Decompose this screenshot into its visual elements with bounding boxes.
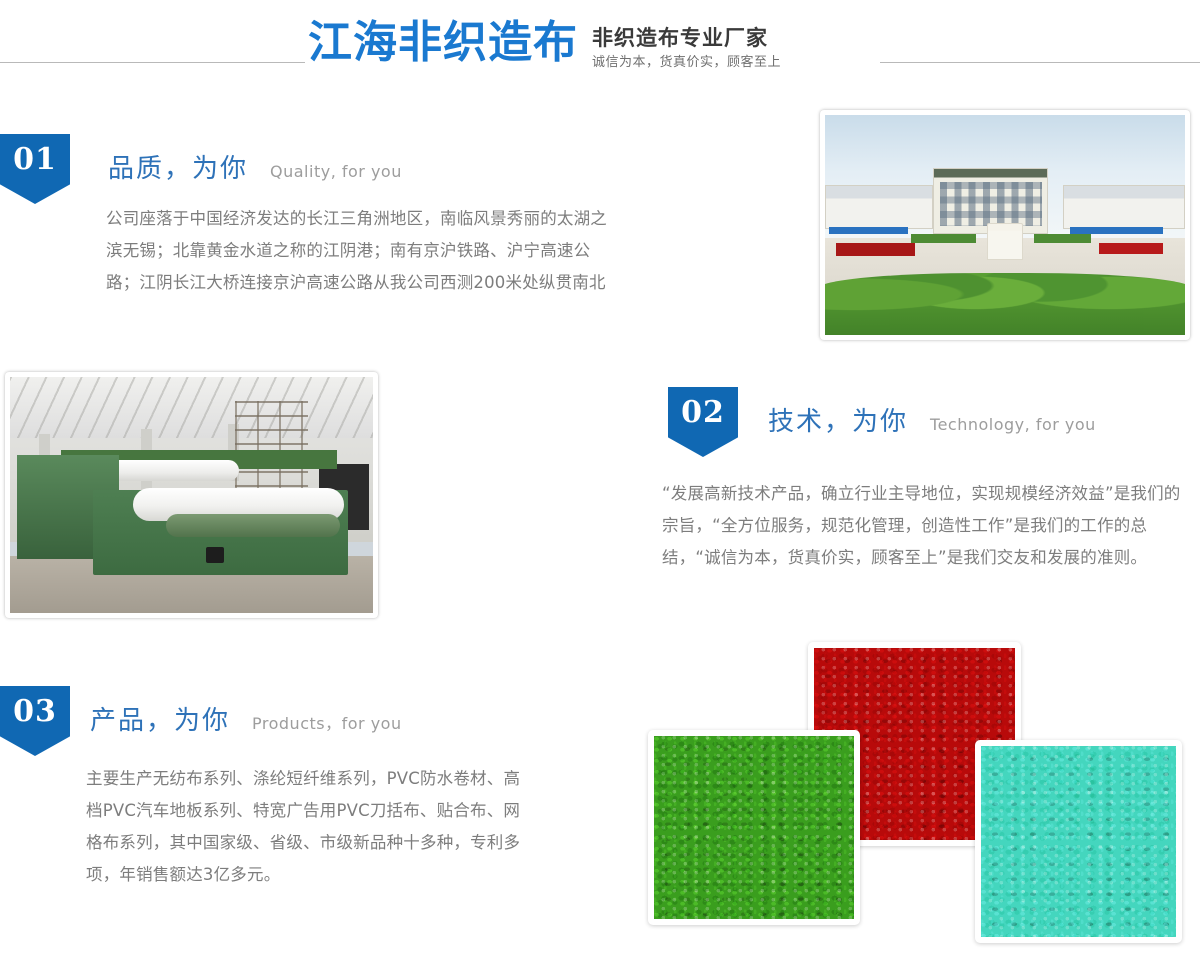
machinery-drum <box>166 514 340 538</box>
factory-canopy-right <box>1070 227 1164 234</box>
section-title-en-01: Quality, for you <box>270 162 402 181</box>
brand-block: 江海非织造布 非织造布专业厂家 诚信为本，货真价实，顾客至上 <box>308 14 781 74</box>
brand-tagline: 非织造布专业厂家 <box>592 24 781 52</box>
brand-logo-title: 江海非织造布 <box>308 14 578 72</box>
factory-treeline <box>825 273 1185 335</box>
section-heading-03: 产品，为你 Products，for you <box>90 700 402 737</box>
machinery-photo <box>5 372 378 618</box>
factory-building-left <box>825 185 933 229</box>
company-intro-page: 江海非织造布 非织造布专业厂家 诚信为本，货真价实，顾客至上 01 品质，为你 … <box>0 0 1200 969</box>
factory-sign-right <box>1099 243 1164 254</box>
section-title-en-03: Products，for you <box>252 710 402 734</box>
machinery-photo-content <box>10 377 373 613</box>
swatch-green <box>648 730 860 925</box>
factory-hedge-right <box>1034 234 1092 243</box>
section-body-03: 主要生产无纺布系列、涤纶短纤维系列，PVC防水卷材、高档PVC汽车地板系列、特宽… <box>86 763 534 891</box>
header-rule-right <box>880 62 1200 63</box>
section-badge-02: 02 <box>668 387 738 457</box>
section-title-en-02: Technology, for you <box>930 415 1096 434</box>
section-title-cn-03: 产品，为你 <box>90 700 230 737</box>
swatch-cyan-surface <box>981 746 1176 937</box>
machinery-ceiling <box>10 377 373 438</box>
swatch-green-surface <box>654 736 854 919</box>
header-rule-left <box>0 62 305 63</box>
brand-slogan: 诚信为本，货真价实，顾客至上 <box>592 52 781 74</box>
factory-gatehouse <box>987 223 1023 260</box>
machinery-access-hatch <box>206 547 224 564</box>
section-badge-03: 03 <box>0 686 70 756</box>
factory-photo-content <box>825 115 1185 335</box>
factory-canopy-left <box>829 227 908 234</box>
page-header: 江海非织造布 非织造布专业厂家 诚信为本，货真价实，顾客至上 <box>0 0 1200 100</box>
section-heading-01: 品质，为你 Quality, for you <box>108 148 402 185</box>
factory-photo <box>820 110 1190 340</box>
brand-tagline-group: 非织造布专业厂家 诚信为本，货真价实，顾客至上 <box>592 14 781 74</box>
section-title-cn-02: 技术，为你 <box>768 401 908 438</box>
factory-hedge-left <box>911 234 976 243</box>
section-body-01: 公司座落于中国经济发达的长江三角洲地区，南临风景秀丽的太湖之滨无锡；北靠黄金水道… <box>106 203 618 299</box>
section-body-02: “发展高新技术产品，确立行业主导地位，实现规模经济效益”是我们的宗旨，“全方位服… <box>662 478 1192 574</box>
section-badge-01: 01 <box>0 134 70 204</box>
swatch-cyan <box>975 740 1182 943</box>
section-title-cn-01: 品质，为你 <box>108 148 248 185</box>
factory-building-right <box>1063 185 1185 229</box>
section-heading-02: 技术，为你 Technology, for you <box>768 401 1096 438</box>
factory-sign-left <box>836 243 915 256</box>
